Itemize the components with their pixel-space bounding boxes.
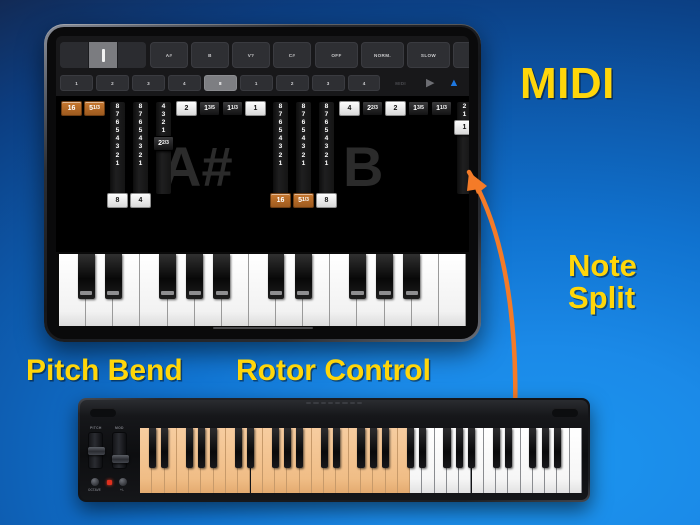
play-icon[interactable]: ▶ bbox=[421, 78, 440, 89]
pitch-slider-label: PITCH bbox=[90, 426, 102, 430]
drawbar-lower-1[interactable]: 8765432116 bbox=[270, 100, 291, 208]
drawbar-cap[interactable]: 22/3 bbox=[362, 101, 383, 116]
preset-right-3[interactable]: 3 bbox=[312, 75, 345, 91]
scale-tick: 1 bbox=[139, 160, 143, 168]
black-key-marker bbox=[80, 291, 92, 295]
tablet-bezel: A# B V? C# OFF NORM. SLOW 2ND 1 2 3 4 bbox=[47, 27, 478, 339]
midi-black-key[interactable] bbox=[443, 428, 450, 468]
scale-tick: 6 bbox=[139, 119, 143, 127]
midi-black-key[interactable] bbox=[456, 428, 463, 468]
midi-black-key[interactable] bbox=[186, 428, 193, 468]
black-key[interactable] bbox=[349, 254, 366, 299]
drawbar-cap[interactable]: 4 bbox=[339, 101, 360, 116]
midi-white-key-upper[interactable] bbox=[570, 428, 582, 493]
black-key-marker bbox=[189, 291, 201, 295]
scale-tick: 2 bbox=[116, 152, 120, 160]
drawbar-lower-3[interactable]: 876543218 bbox=[316, 100, 337, 208]
drawbar-cap[interactable]: 51/3 bbox=[84, 101, 105, 116]
drawbar-lower-8[interactable]: 11/3 bbox=[431, 100, 452, 208]
midi-keyboard-body: PITCH MOD OCTAVE +/- bbox=[80, 400, 588, 500]
drawbar-cap[interactable]: 4 bbox=[130, 193, 151, 208]
rotor-mode-group: OFF NORM. SLOW 2ND bbox=[315, 42, 469, 68]
midi-status-label: MIDI bbox=[383, 81, 417, 86]
drawbar-cap[interactable]: 51/3 bbox=[293, 193, 314, 208]
drawbar-cap[interactable]: 22/3 bbox=[153, 136, 174, 151]
segment-2[interactable] bbox=[118, 42, 146, 68]
preset-right-4[interactable]: 4 bbox=[348, 75, 381, 91]
controller-panel: PITCH MOD OCTAVE +/- bbox=[87, 426, 135, 496]
scale-tick: 7 bbox=[302, 111, 306, 119]
drawbar-scale: 87654321 bbox=[133, 102, 148, 194]
segment-1-selected[interactable] bbox=[89, 42, 118, 68]
button-rotor-off[interactable]: OFF bbox=[315, 42, 358, 68]
power-led bbox=[107, 480, 112, 485]
scale-tick: 7 bbox=[279, 111, 283, 119]
drawbar-group-upper: 1651/3876543218876543214432122/3213/511/… bbox=[61, 100, 266, 252]
vibrato-depth-segmented-control[interactable] bbox=[60, 42, 146, 68]
key-select-group: A# B V? C# bbox=[150, 42, 311, 68]
black-key-marker bbox=[216, 291, 228, 295]
scale-tick: 4 bbox=[279, 135, 283, 143]
scale-tick: 7 bbox=[139, 111, 143, 119]
segment-0[interactable] bbox=[60, 42, 89, 68]
black-key[interactable] bbox=[268, 254, 285, 299]
scale-tick: 8 bbox=[116, 103, 120, 111]
drawbar-cap[interactable]: 2 bbox=[385, 101, 406, 116]
midi-black-key[interactable] bbox=[468, 428, 475, 468]
scale-tick: 1 bbox=[463, 111, 467, 119]
scale-tick: 7 bbox=[116, 111, 120, 119]
octave-down-label: OCTAVE bbox=[88, 488, 101, 492]
preset-selected[interactable]: 8 bbox=[204, 75, 237, 91]
chevron-up-icon[interactable]: ▲ bbox=[443, 78, 465, 89]
tablet-screen: A# B V? C# OFF NORM. SLOW 2ND 1 2 3 4 bbox=[56, 36, 469, 330]
rubber-pad-left bbox=[90, 408, 116, 417]
midi-black-key[interactable] bbox=[370, 428, 377, 468]
scale-tick: 1 bbox=[302, 160, 306, 168]
black-key[interactable] bbox=[213, 254, 230, 299]
black-key-marker bbox=[107, 291, 119, 295]
drawbar-cap[interactable]: 13/5 bbox=[408, 101, 429, 116]
keyboard-keys[interactable] bbox=[59, 254, 466, 326]
midi-black-key[interactable] bbox=[321, 428, 328, 468]
scale-tick: 7 bbox=[325, 111, 329, 119]
scale-tick: 3 bbox=[302, 143, 306, 151]
mod-slider-label: MOD bbox=[115, 426, 124, 430]
annotation-arrow-icon bbox=[455, 150, 585, 420]
scale-tick: 5 bbox=[116, 127, 120, 135]
preset-left-2[interactable]: 2 bbox=[96, 75, 129, 91]
scale-tick: 3 bbox=[279, 143, 283, 151]
segment-indicator-bar bbox=[102, 49, 105, 62]
scale-tick: 4 bbox=[139, 135, 143, 143]
button-key-asharp[interactable]: A# bbox=[150, 42, 188, 68]
preset-right-1[interactable]: 1 bbox=[240, 75, 273, 91]
octave-up-label: +/- bbox=[120, 488, 124, 492]
drawbar-cap[interactable]: 16 bbox=[270, 193, 291, 208]
scale-tick: 2 bbox=[162, 119, 166, 127]
midi-black-key[interactable] bbox=[333, 428, 340, 468]
vent-grille bbox=[306, 401, 362, 405]
app-toolbar-primary: A# B V? C# OFF NORM. SLOW 2ND bbox=[56, 36, 469, 72]
midi-black-key[interactable] bbox=[296, 428, 303, 468]
midi-keys[interactable] bbox=[140, 428, 582, 493]
drawbar-scale: 87654321 bbox=[319, 102, 334, 194]
drawbar-cap[interactable]: 8 bbox=[107, 193, 128, 208]
scale-tick: 6 bbox=[325, 119, 329, 127]
midi-black-key[interactable] bbox=[247, 428, 254, 468]
scale-tick: 8 bbox=[302, 103, 306, 111]
midi-black-key[interactable] bbox=[161, 428, 168, 468]
midi-black-key[interactable] bbox=[382, 428, 389, 468]
scale-tick: 2 bbox=[139, 152, 143, 160]
drawbar-cap[interactable]: 16 bbox=[61, 101, 82, 116]
pitch-bend-knob[interactable] bbox=[88, 447, 105, 455]
midi-black-key[interactable] bbox=[554, 428, 561, 468]
black-key-marker bbox=[161, 291, 173, 295]
drawbar-upper-5[interactable]: 432122/3 bbox=[153, 100, 174, 208]
drawbar-upper-2[interactable]: 51/3 bbox=[84, 100, 105, 208]
midi-black-key[interactable] bbox=[284, 428, 291, 468]
midi-black-key[interactable] bbox=[505, 428, 512, 468]
scale-tick: 5 bbox=[302, 127, 306, 135]
black-key-marker bbox=[270, 291, 282, 295]
drawbar-scale: 87654321 bbox=[296, 102, 311, 194]
scale-tick: 2 bbox=[302, 152, 306, 160]
black-key-marker bbox=[297, 291, 309, 295]
midi-black-key[interactable] bbox=[272, 428, 279, 468]
scale-tick: 6 bbox=[302, 119, 306, 127]
drawbar-lower-5[interactable]: 22/3 bbox=[362, 100, 383, 208]
scale-tick: 3 bbox=[325, 143, 329, 151]
black-key[interactable] bbox=[376, 254, 393, 299]
midi-black-key[interactable] bbox=[529, 428, 536, 468]
drawbar-lower-6[interactable]: 2 bbox=[385, 100, 406, 208]
drawbar-panel: A# B 1651/3876543218876543214432122/3213… bbox=[56, 96, 469, 252]
drawbar-cap[interactable]: 13/5 bbox=[199, 101, 220, 116]
scale-tick: 2 bbox=[325, 152, 329, 160]
midi-black-key[interactable] bbox=[419, 428, 426, 468]
midi-black-key[interactable] bbox=[357, 428, 364, 468]
tablet-device: A# B V? C# OFF NORM. SLOW 2ND 1 2 3 4 bbox=[44, 24, 481, 342]
drawbar-lower-2[interactable]: 8765432151/3 bbox=[293, 100, 314, 208]
modulation-knob[interactable] bbox=[112, 455, 129, 463]
preset-left-1[interactable]: 1 bbox=[60, 75, 93, 91]
preset-left-3[interactable]: 3 bbox=[132, 75, 165, 91]
drawbar-upper-8[interactable]: 11/3 bbox=[222, 100, 243, 208]
octave-up-button[interactable] bbox=[119, 478, 127, 486]
drawbar-scale: 87654321 bbox=[110, 102, 125, 194]
drawbar-cap[interactable]: 1 bbox=[245, 101, 266, 116]
scale-tick: 5 bbox=[139, 127, 143, 135]
label-midi: MIDI bbox=[520, 62, 615, 107]
scale-tick: 4 bbox=[325, 135, 329, 143]
scale-tick: 4 bbox=[116, 135, 120, 143]
drawbar-cap[interactable]: 11/3 bbox=[222, 101, 243, 116]
drawbar-upper-7[interactable]: 13/5 bbox=[199, 100, 220, 208]
scale-tick: 8 bbox=[325, 103, 329, 111]
black-key[interactable] bbox=[295, 254, 312, 299]
midi-black-key[interactable] bbox=[235, 428, 242, 468]
drawbar-cap[interactable]: 8 bbox=[316, 193, 337, 208]
home-indicator bbox=[213, 327, 313, 329]
scale-tick: 6 bbox=[116, 119, 120, 127]
onscreen-keyboard[interactable] bbox=[56, 252, 469, 330]
scale-tick: 3 bbox=[162, 111, 166, 119]
scale-tick: 5 bbox=[325, 127, 329, 135]
drawbar-cap[interactable]: 1 bbox=[454, 120, 469, 135]
midi-black-key[interactable] bbox=[210, 428, 217, 468]
scale-tick: 4 bbox=[162, 103, 166, 111]
drawbar-cap[interactable]: 2 bbox=[176, 101, 197, 116]
black-key[interactable] bbox=[78, 254, 95, 299]
preset-right-2[interactable]: 2 bbox=[276, 75, 309, 91]
scale-tick: 8 bbox=[139, 103, 143, 111]
scale-tick: 1 bbox=[279, 160, 283, 168]
scale-tick: 8 bbox=[279, 103, 283, 111]
octave-down-button[interactable] bbox=[91, 478, 99, 486]
scale-tick: 1 bbox=[162, 127, 166, 135]
black-key[interactable] bbox=[403, 254, 420, 299]
scale-tick: 4 bbox=[302, 135, 306, 143]
drawbar-upper-6[interactable]: 2 bbox=[176, 100, 197, 208]
rubber-pad-right bbox=[552, 408, 578, 417]
midi-black-key[interactable] bbox=[149, 428, 156, 468]
black-key-marker bbox=[379, 291, 391, 295]
scale-tick: 6 bbox=[279, 119, 283, 127]
preset-left-4[interactable]: 4 bbox=[168, 75, 201, 91]
midi-black-key[interactable] bbox=[493, 428, 500, 468]
drawbar-lower-4[interactable]: 4 bbox=[339, 100, 360, 208]
black-key-marker bbox=[351, 291, 363, 295]
modulation-slider[interactable] bbox=[112, 432, 127, 469]
midi-black-key[interactable] bbox=[198, 428, 205, 468]
black-key-marker bbox=[406, 291, 418, 295]
scale-tick: 3 bbox=[116, 143, 120, 151]
label-rotor-control: Rotor Control bbox=[236, 356, 431, 387]
button-rotor-norm[interactable]: NORM. bbox=[361, 42, 404, 68]
drawbar-cap[interactable]: 11/3 bbox=[431, 101, 452, 116]
drawbar-scale: 87654321 bbox=[273, 102, 288, 194]
button-key-v[interactable]: V? bbox=[232, 42, 270, 68]
label-pitch-bend: Pitch Bend bbox=[26, 356, 183, 387]
scale-tick: 2 bbox=[463, 103, 467, 111]
scale-tick: 5 bbox=[279, 127, 283, 135]
button-key-csharp[interactable]: C# bbox=[273, 42, 311, 68]
button-key-b[interactable]: B bbox=[191, 42, 229, 68]
midi-controller-keyboard: PITCH MOD OCTAVE +/- bbox=[78, 398, 590, 502]
black-key[interactable] bbox=[186, 254, 203, 299]
app-toolbar-presets: 1 2 3 4 8 1 2 3 4 MIDI ▶ ▲ bbox=[56, 72, 469, 96]
drawbar-lower-7[interactable]: 13/5 bbox=[408, 100, 429, 208]
scale-tick: 1 bbox=[116, 160, 120, 168]
button-rotor-2nd[interactable]: 2ND bbox=[453, 42, 469, 68]
scale-tick: 3 bbox=[139, 143, 143, 151]
drawbar-upper-9[interactable]: 1 bbox=[245, 100, 266, 208]
drawbar-upper-1[interactable]: 16 bbox=[61, 100, 82, 208]
scale-tick: 2 bbox=[279, 152, 283, 160]
midi-black-key[interactable] bbox=[542, 428, 549, 468]
drawbar-group-lower: 87654321168765432151/3876543218422/3213/… bbox=[270, 100, 469, 252]
scale-tick: 1 bbox=[325, 160, 329, 168]
black-key[interactable] bbox=[105, 254, 122, 299]
pitch-bend-slider[interactable] bbox=[88, 432, 103, 469]
drawbar-upper-3[interactable]: 876543218 bbox=[107, 100, 128, 208]
button-rotor-slow[interactable]: SLOW bbox=[407, 42, 450, 68]
midi-black-key[interactable] bbox=[407, 428, 414, 468]
black-key[interactable] bbox=[159, 254, 176, 299]
drawbar-upper-4[interactable]: 876543214 bbox=[130, 100, 151, 208]
